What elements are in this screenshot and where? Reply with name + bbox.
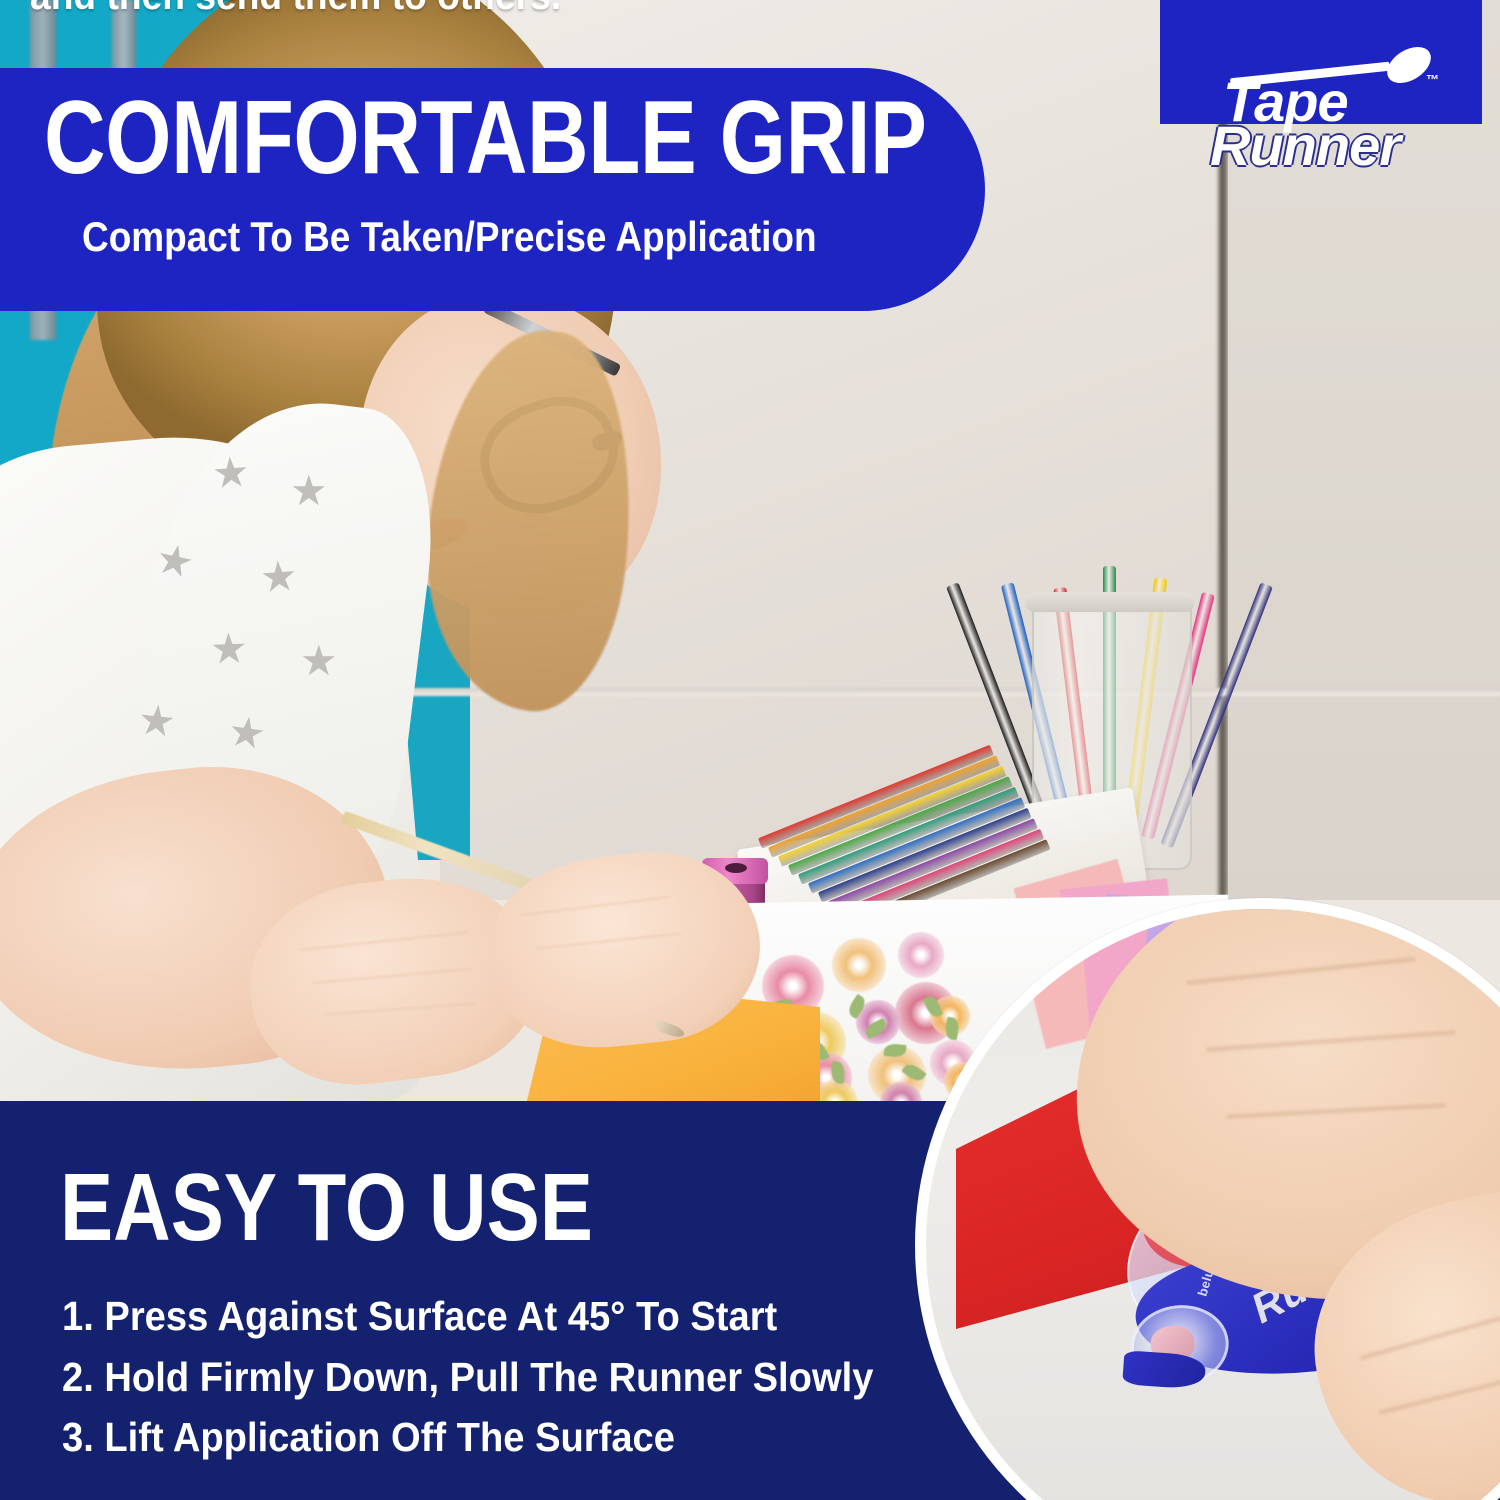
logo-text-runner: Runner [1210, 118, 1400, 174]
shirt-star: ★ [259, 555, 299, 600]
usage-step: 3. Lift Application Off The Surface [62, 1407, 873, 1468]
flower-sticker [832, 938, 886, 992]
brand-logo: Tape ™ Runner [1160, 0, 1500, 190]
usage-step: 1. Press Against Surface At 45° To Start [62, 1286, 873, 1347]
shirt-star: ★ [136, 698, 178, 744]
usage-steps-list: 1. Press Against Surface At 45° To Start… [62, 1286, 934, 1468]
shirt-star: ★ [209, 627, 248, 670]
usage-step: 2. Hold Firmly Down, Pull The Runner Slo… [62, 1347, 873, 1408]
jar-rim [1026, 592, 1194, 612]
shirt-star: ★ [290, 470, 328, 512]
product-closeup-circle: Tape Runner MINI belunce 5mm x 6m [915, 898, 1500, 1500]
product-infographic: ★★★★★★★★★★★★★★★★ and then send them to o… [0, 0, 1500, 1500]
shirt-star: ★ [211, 451, 251, 496]
logo-trademark: ™ [1426, 72, 1439, 87]
banner-subhead: Compact To Be Taken/Precise Application [82, 216, 856, 258]
bottom-headline: EASY TO USE [60, 1160, 593, 1256]
banner-headline: COMFORTABLE GRIP [44, 86, 782, 190]
cut-off-caption: and then send them to others. [30, 0, 561, 19]
sharpener-hole [725, 863, 747, 873]
shirt-star: ★ [225, 710, 268, 757]
shirt-star: ★ [300, 640, 338, 682]
comfortable-grip-banner: COMFORTABLE GRIP Compact To Be Taken/Pre… [0, 68, 985, 311]
